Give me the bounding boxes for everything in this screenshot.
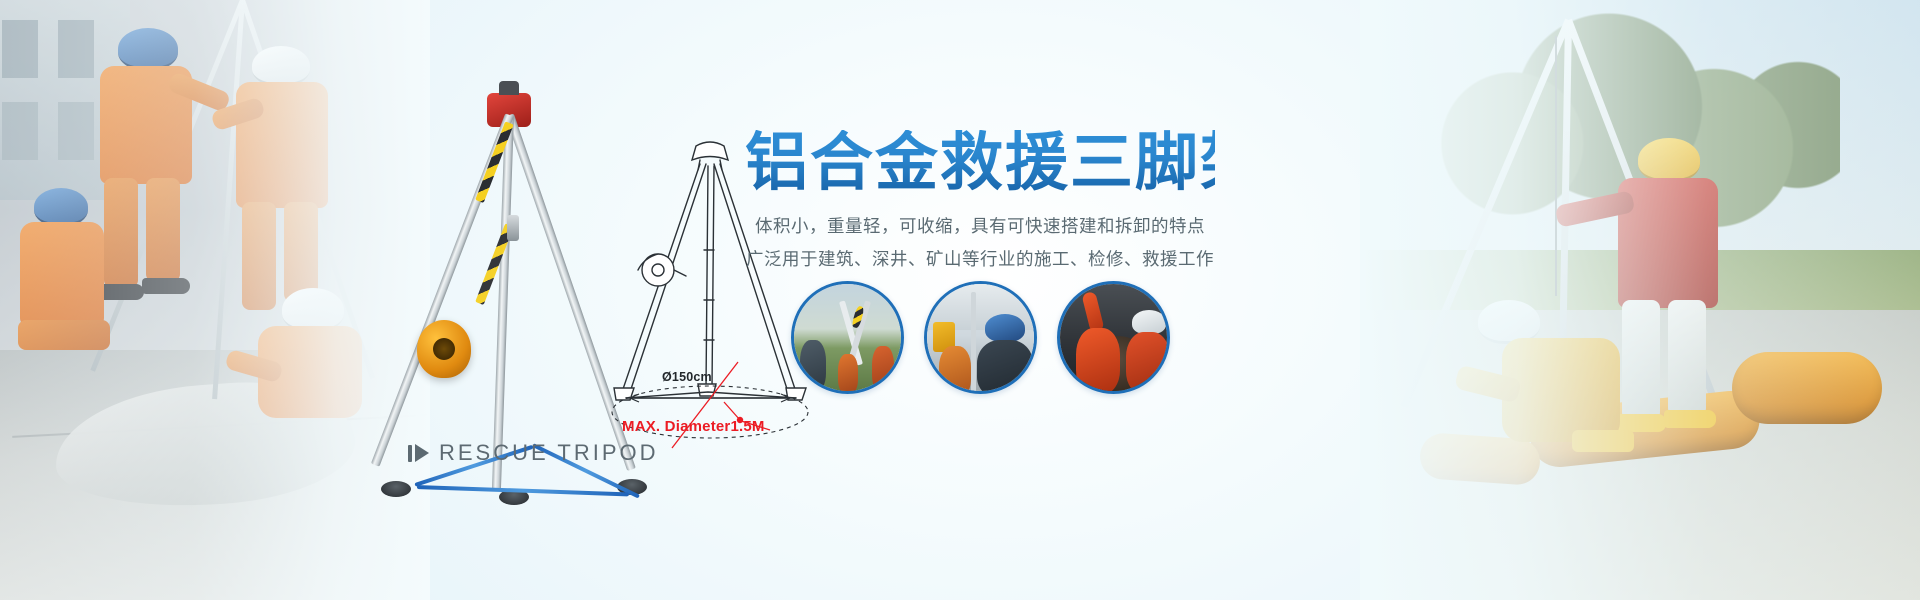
thumbnail-row — [770, 281, 1190, 394]
subtitle-line-2: 广泛用于建筑、深井、矿山等行业的施工、检修、救援工作 — [745, 243, 1215, 275]
play-bar-icon — [408, 444, 429, 462]
page-title: 铝合金救援三脚架 — [745, 130, 1215, 196]
thumb3-rescuer-body — [1076, 328, 1120, 394]
thumb-site-inspection[interactable] — [924, 281, 1037, 394]
tripod-winch — [417, 320, 471, 378]
tripod-foot-left — [381, 481, 411, 497]
product-banner: Ø150cm MAX. Diameter1.5M RESCUE TRIPOD 铝… — [0, 0, 1920, 600]
tripod-pulley — [507, 215, 519, 241]
thumb1-person-right — [872, 346, 894, 392]
left-photo-fade-overlay — [0, 0, 430, 600]
photo-left-rescue-team — [0, 0, 430, 600]
banner-text-block: 铝合金救援三脚架 体积小，重量轻，可收缩，具有可快速搭建和拆卸的特点 广泛用于建… — [745, 130, 1215, 275]
thumb2-worker-orange — [939, 346, 971, 394]
right-photo-fade-overlay — [1360, 0, 1920, 600]
caption-label: RESCUE TRIPOD — [439, 440, 659, 466]
thumb-confined-space-rescue[interactable] — [1057, 281, 1170, 394]
thumb1-person-mid — [838, 354, 858, 394]
thumb3-helmet-white — [1132, 310, 1166, 334]
thumb-field-rescue-training[interactable] — [791, 281, 904, 394]
thumb2-worker-body — [977, 340, 1033, 394]
photo-right-rescue-operation — [1360, 0, 1920, 600]
thumb2-worker-blue-helmet — [985, 314, 1025, 342]
subtitle-line-1: 体积小，重量轻，可收缩，具有可快速搭建和拆卸的特点 — [745, 210, 1215, 242]
max-diameter-label: MAX. Diameter1.5M — [622, 418, 765, 435]
thumb3-second-rescuer — [1126, 332, 1170, 394]
thumb1-person-left — [800, 340, 826, 392]
product-caption: RESCUE TRIPOD — [408, 440, 659, 466]
diameter-label: Ø150cm — [662, 370, 712, 384]
thumb2-pole — [971, 292, 976, 392]
